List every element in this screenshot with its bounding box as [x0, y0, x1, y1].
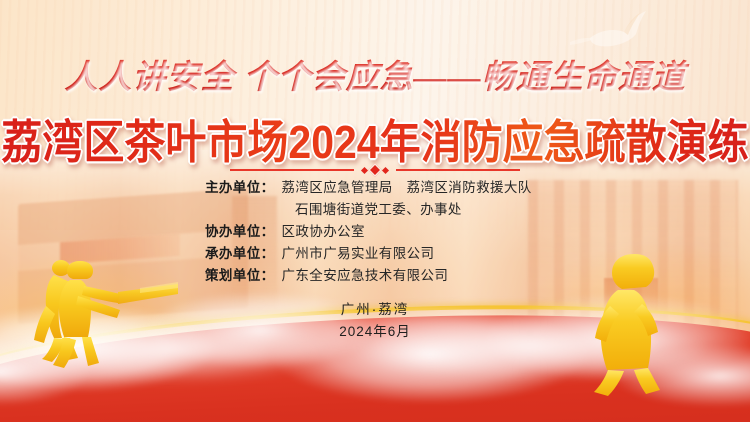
page-title: 荔湾区茶叶市场2024年消防应急疏散演练 [0, 104, 750, 171]
organizer-label: 承办单位： [205, 244, 275, 263]
organizer-list: 主办单位： 荔湾区应急管理局 荔湾区消防救援大队 石围塘街道党工委、办事处 协办… [205, 178, 585, 288]
diamond-large-icon [368, 163, 382, 177]
divider [230, 163, 520, 177]
poster-banner: 人人讲安全 个个会应急——畅通生命通道 荔湾区茶叶市场2024年消防应急疏散演练… [0, 0, 750, 422]
divider-line-right [396, 169, 520, 171]
location-text: 广州·荔湾 [0, 298, 750, 318]
organizer-value: 区政协办公室 [282, 222, 365, 241]
organizer-label: 协办单位： [205, 222, 275, 241]
divider-line-left [230, 169, 354, 171]
organizer-row-planner: 策划单位： 广东全安应急技术有限公司 [205, 266, 585, 285]
organizer-value: 石围塘街道党工委、办事处 [295, 200, 462, 219]
poster-slogan: 人人讲安全 个个会应急——畅通生命通道 [0, 50, 750, 98]
organizer-row-host: 主办单位： 荔湾区应急管理局 荔湾区消防救援大队 [205, 178, 585, 197]
organizer-row-host-cont: 石围塘街道党工委、办事处 [205, 200, 585, 219]
organizer-value: 荔湾区应急管理局 荔湾区消防救援大队 [282, 178, 532, 197]
organizer-row-cohost: 协办单位： 区政协办公室 [205, 222, 585, 241]
organizer-row-undertaker: 承办单位： 广州市广易实业有限公司 [205, 244, 585, 263]
diamond-ornament-icon [354, 165, 396, 175]
organizer-label: 策划单位： [205, 266, 275, 285]
poster-content: 人人讲安全 个个会应急——畅通生命通道 荔湾区茶叶市场2024年消防应急疏散演练… [0, 0, 750, 422]
organizer-value: 广东全安应急技术有限公司 [282, 266, 449, 285]
organizer-label: 主办单位： [205, 178, 275, 197]
organizer-value: 广州市广易实业有限公司 [282, 244, 435, 263]
diamond-small-right-icon [382, 166, 389, 173]
date-text: 2024年6月 [0, 320, 750, 340]
